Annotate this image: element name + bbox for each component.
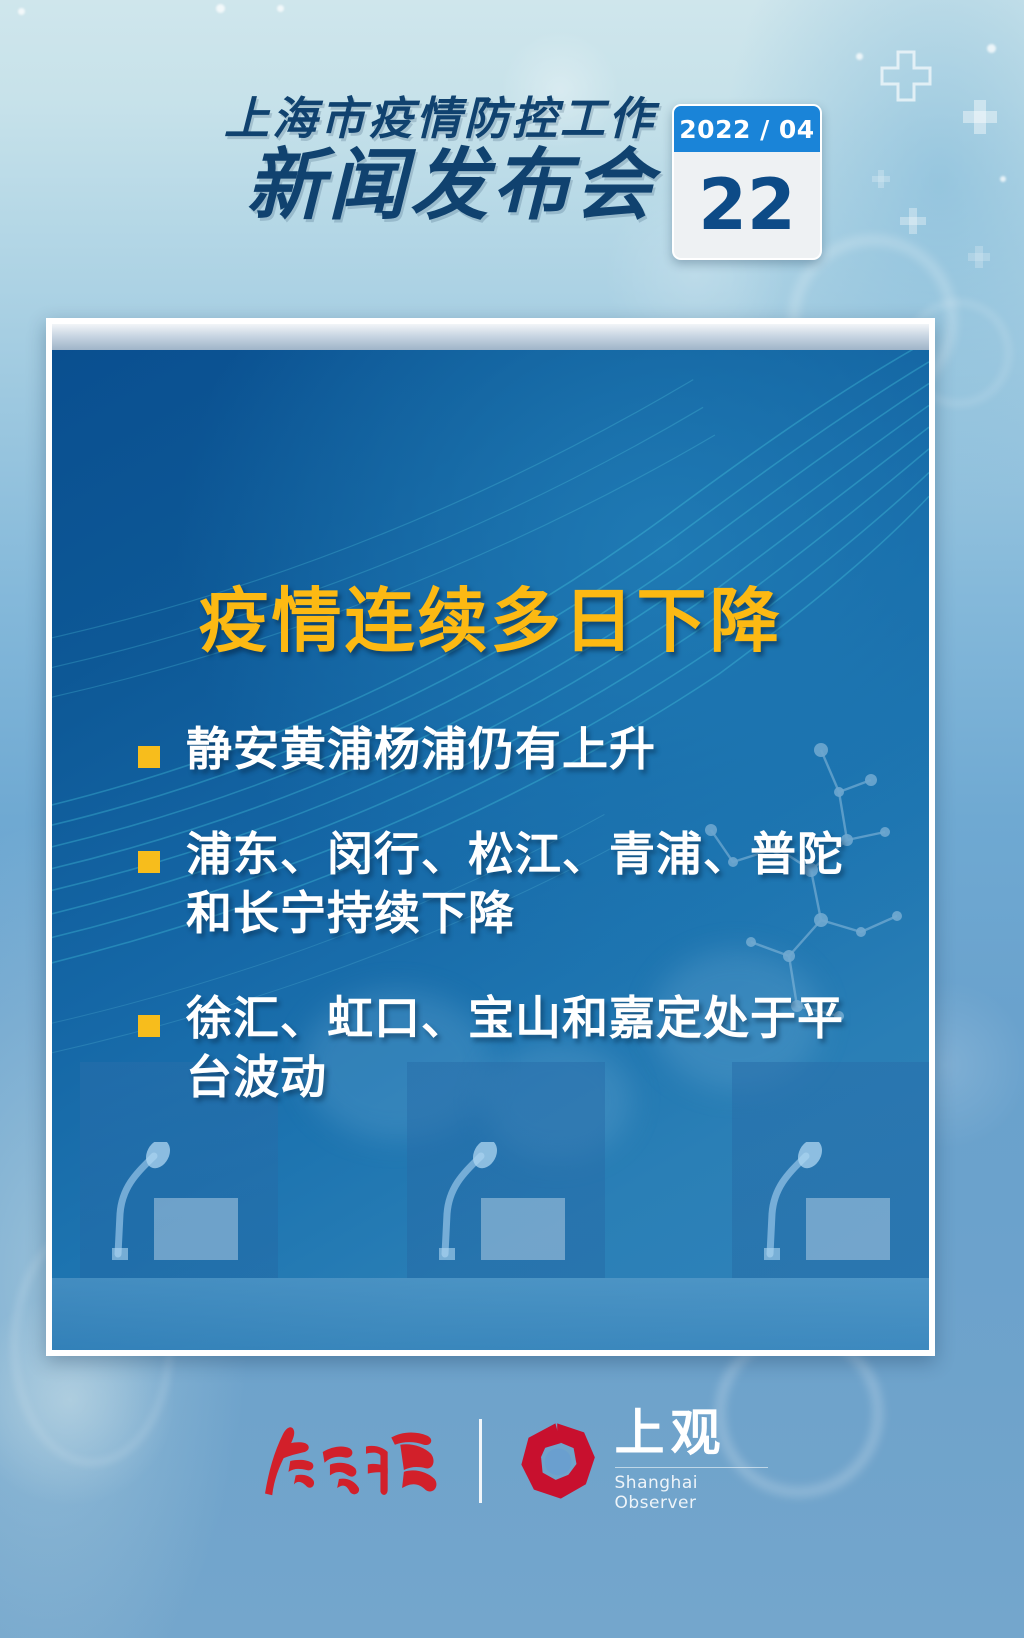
content-card: 疫情连续多日下降 静安黄浦杨浦仍有上升 浦东、闵行、松江、青浦、普陀和长宁持续下…	[46, 318, 935, 1356]
medical-cross-icon	[880, 50, 932, 102]
card-headline: 疫情连续多日下降	[52, 565, 929, 666]
page-title: 上海市疫情防控工作 新闻发布会	[186, 96, 656, 225]
footer-divider	[479, 1419, 482, 1503]
sparkle-dot	[18, 8, 25, 15]
date-year-month: 2022 / 04	[674, 106, 820, 152]
date-badge: 2022 / 04 22	[672, 104, 822, 260]
list-item: 浦东、闵行、松江、青浦、普陀和长宁持续下降	[138, 825, 898, 943]
medical-cross-outline-svg	[880, 50, 932, 102]
observer-name-cn: 上观	[615, 1408, 769, 1458]
footer: 解放日报	[0, 1408, 1024, 1548]
jiefang-daily-logo: 解放日报	[256, 1415, 445, 1507]
sparkle-dot	[277, 5, 284, 12]
header: 上海市疫情防控工作 新闻发布会 2022 / 04 22	[0, 96, 1024, 286]
bullet-text: 浦东、闵行、松江、青浦、普陀和长宁持续下降	[186, 825, 876, 943]
card-text-block: 疫情连续多日下降 静安黄浦杨浦仍有上升 浦东、闵行、松江、青浦、普陀和长宁持续下…	[52, 350, 929, 1350]
bullet-text: 静安黄浦杨浦仍有上升	[186, 720, 656, 779]
aperture-hexagon-icon	[516, 1415, 598, 1507]
bullet-text: 徐汇、虹口、宝山和嘉定处于平台波动	[186, 989, 876, 1107]
bullet-square-icon	[138, 1015, 160, 1037]
card-top-strip	[52, 324, 929, 350]
observer-name-en: Shanghai Observer	[615, 1467, 769, 1513]
bullet-list: 静安黄浦杨浦仍有上升 浦东、闵行、松江、青浦、普陀和长宁持续下降 徐汇、虹口、宝…	[138, 720, 898, 1152]
list-item: 徐汇、虹口、宝山和嘉定处于平台波动	[138, 989, 898, 1107]
sparkle-dot	[987, 44, 996, 53]
bullet-square-icon	[138, 851, 160, 873]
list-item: 静安黄浦杨浦仍有上升	[138, 720, 898, 779]
shanghai-observer-logo: 上观 Shanghai Observer	[516, 1408, 768, 1513]
footer-logos: 解放日报	[256, 1408, 768, 1513]
page-title-line2: 新闻发布会	[186, 147, 656, 225]
sparkle-dot	[856, 53, 863, 60]
card-inner: 疫情连续多日下降 静安黄浦杨浦仍有上升 浦东、闵行、松江、青浦、普陀和长宁持续下…	[52, 350, 929, 1350]
bullet-square-icon	[138, 746, 160, 768]
date-day: 22	[674, 152, 820, 258]
observer-text-block: 上观 Shanghai Observer	[615, 1408, 769, 1513]
page-title-line1: 上海市疫情防控工作	[186, 96, 656, 141]
sparkle-dot	[216, 4, 225, 13]
